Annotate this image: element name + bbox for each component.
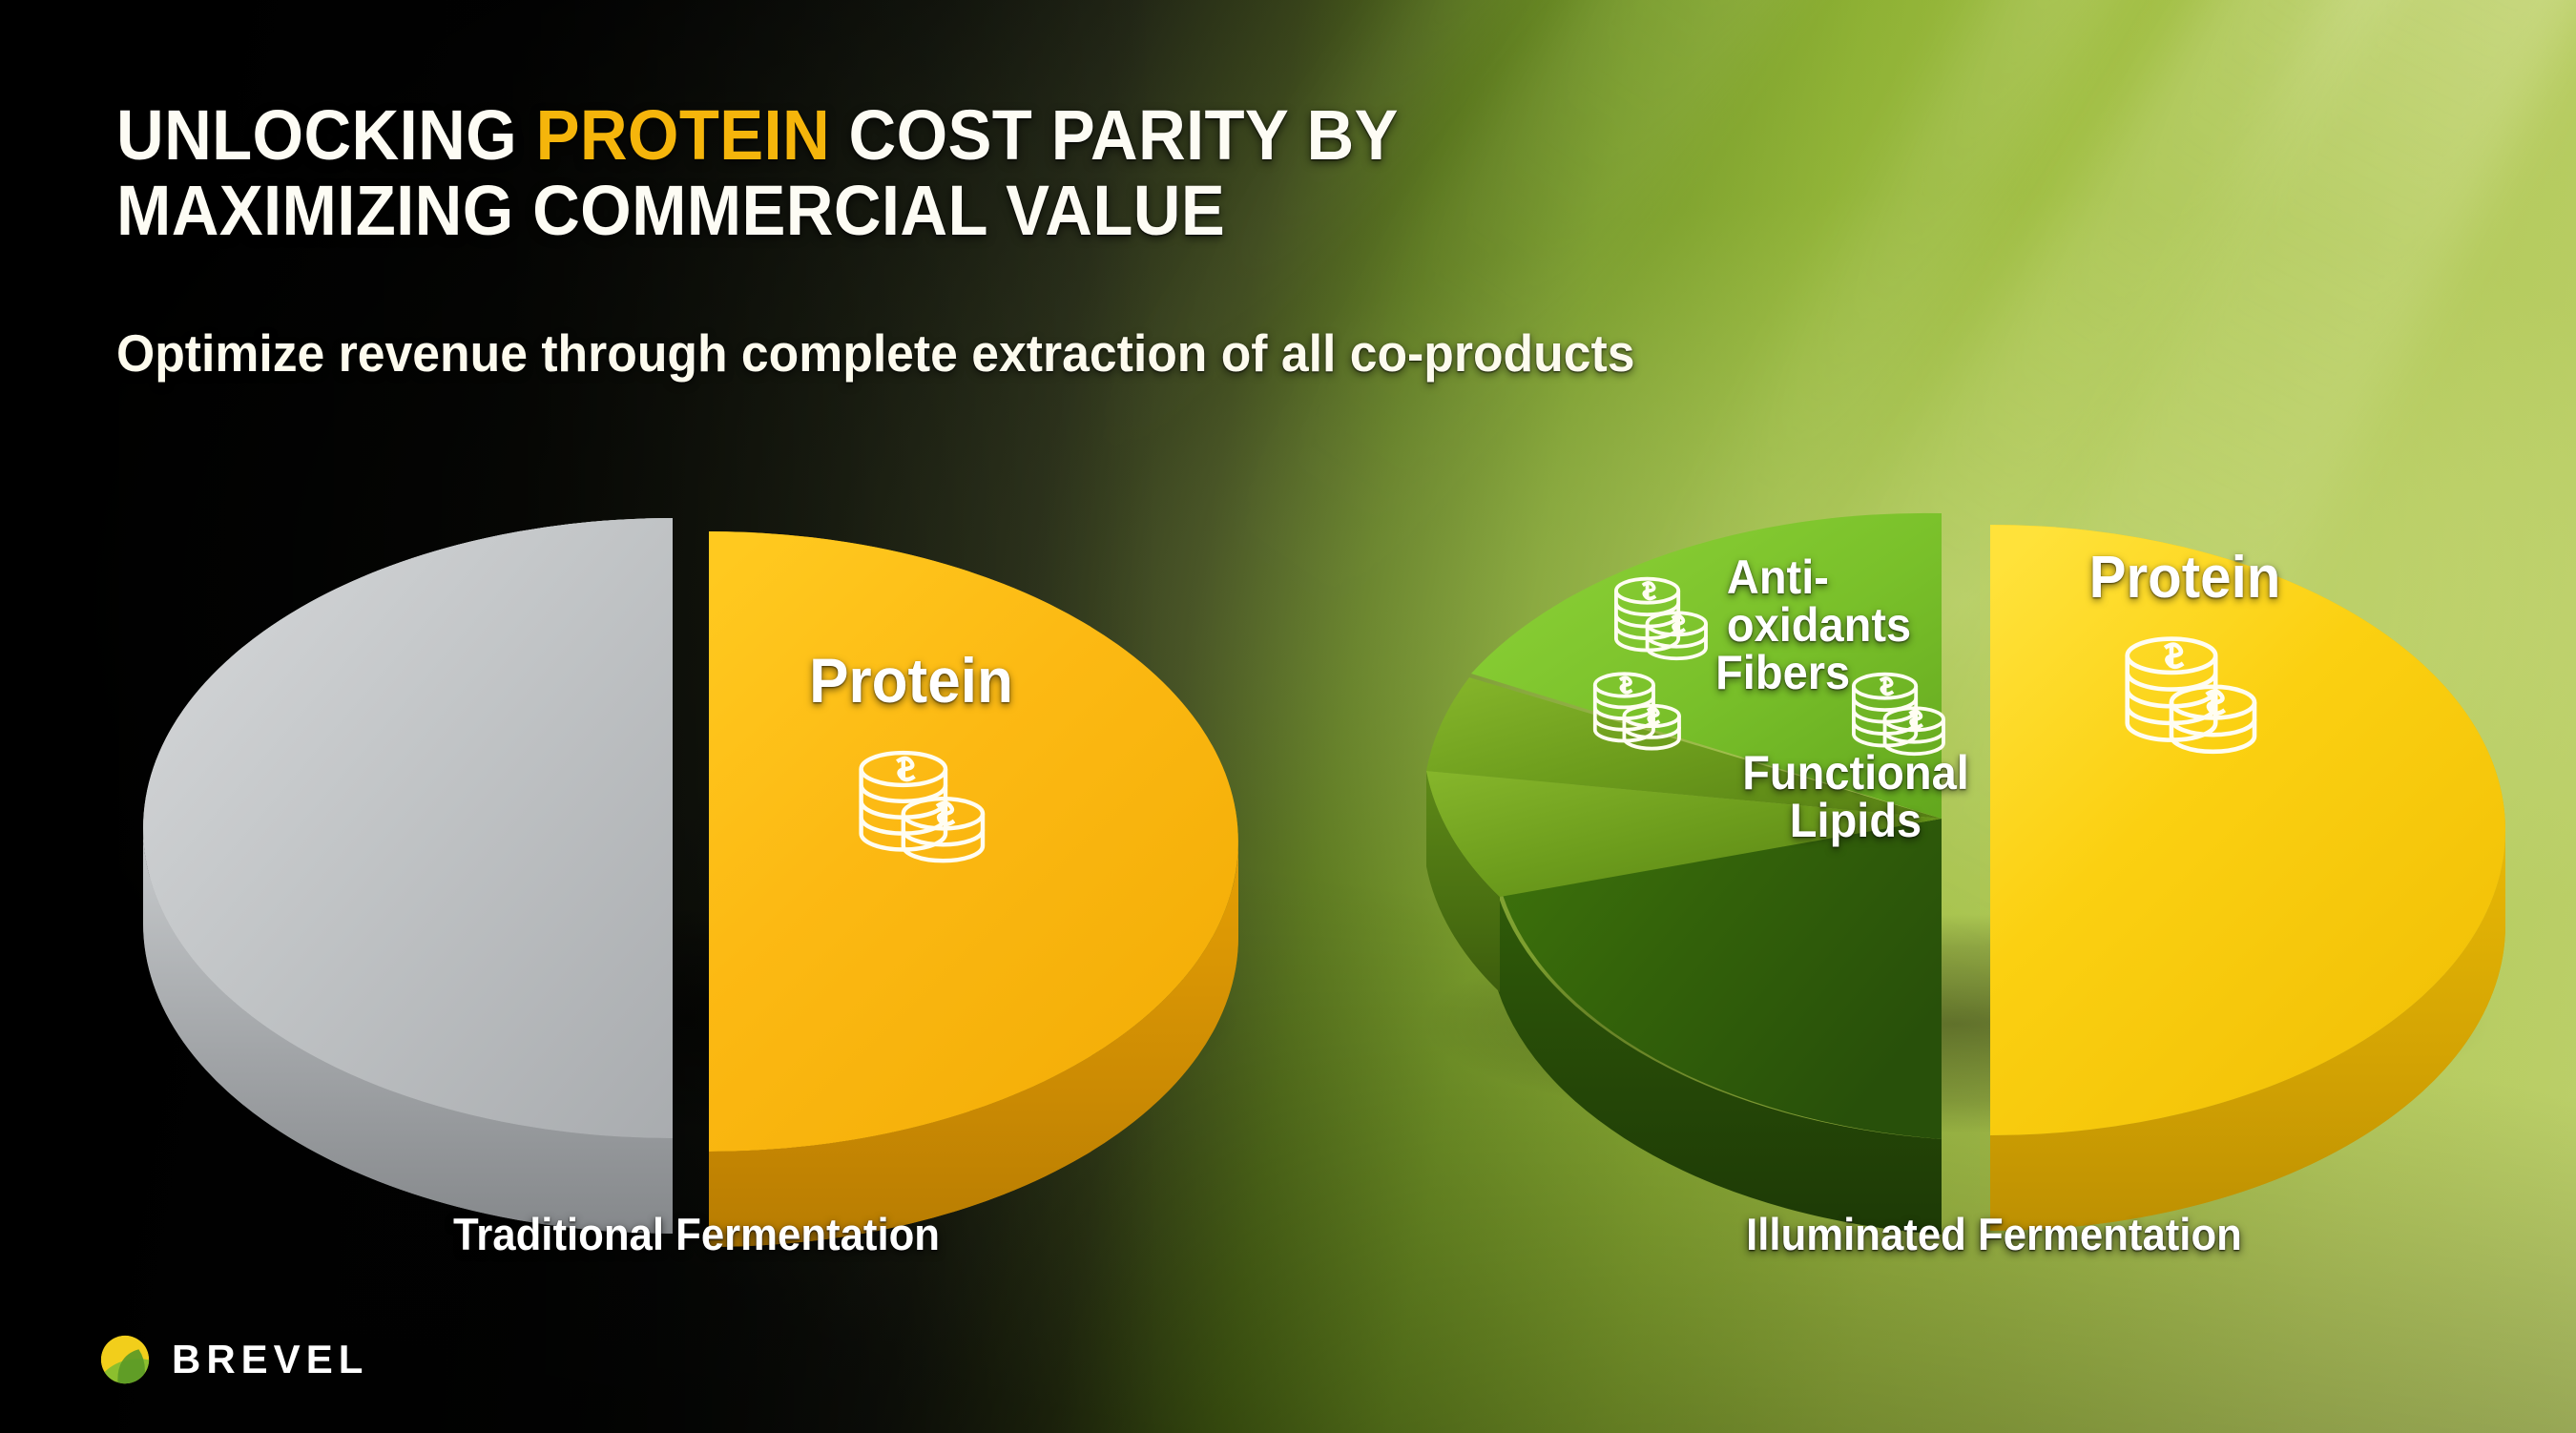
title-line-1-pre: UNLOCKING — [116, 95, 536, 175]
pie-svg-left — [114, 485, 1278, 1153]
title-highlight-protein: PROTEIN — [536, 95, 830, 175]
brevel-logo-mark-icon — [99, 1334, 151, 1385]
chart-illuminated-fermentation — [1412, 485, 2538, 1153]
chart-traditional-fermentation — [114, 485, 1278, 1153]
title-line-1-post: COST PARITY BY — [830, 95, 1399, 175]
pie-svg-right — [1412, 485, 2538, 1153]
page-title: UNLOCKING PROTEIN COST PARITY BY MAXIMIZ… — [116, 97, 1625, 248]
brevel-logo-text: BREVEL — [172, 1337, 368, 1382]
chart-caption-traditional: Traditional Fermentation — [199, 1208, 1194, 1260]
chart-caption-illuminated: Illuminated Fermentation — [1497, 1208, 2491, 1260]
slide-canvas: UNLOCKING PROTEIN COST PARITY BY MAXIMIZ… — [0, 0, 2576, 1433]
title-line-2: MAXIMIZING COMMERCIAL VALUE — [116, 171, 1225, 250]
brevel-logo[interactable]: BREVEL — [99, 1334, 368, 1385]
pie-slice-protein[interactable] — [709, 531, 1238, 1247]
pie-slice-protein-right[interactable] — [1990, 525, 2505, 1231]
page-subtitle: Optimize revenue through complete extrac… — [116, 322, 2340, 384]
